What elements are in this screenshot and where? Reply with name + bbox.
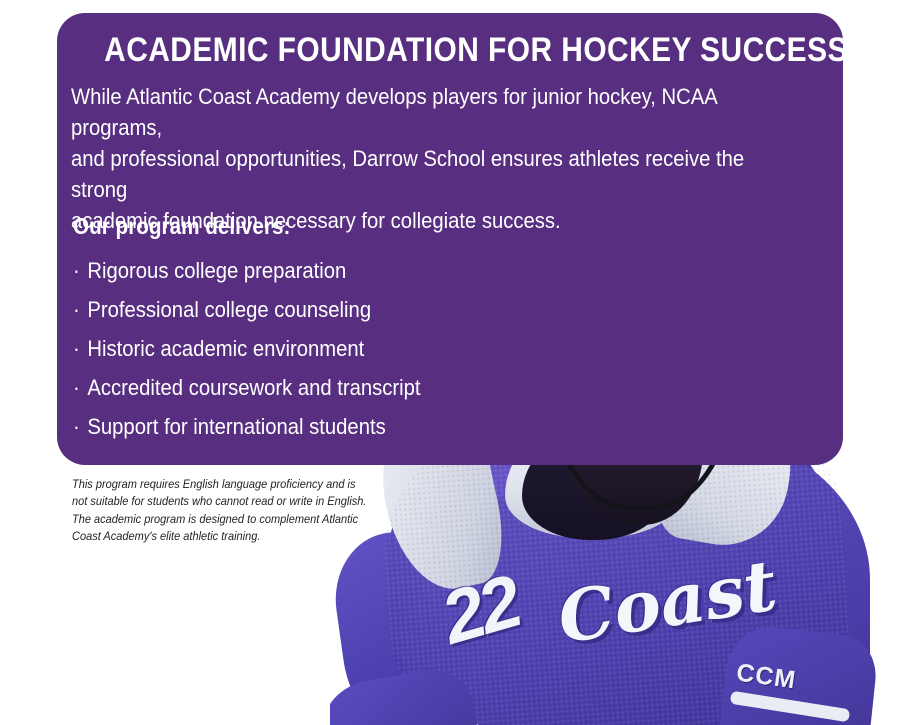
list-item: ·Historic academic environment (73, 329, 541, 368)
purple-content-panel: ACADEMIC FOUNDATION FOR HOCKEY SUCCESS W… (57, 13, 843, 465)
list-item-label: Historic academic environment (87, 336, 364, 361)
program-delivers-heading: Our program delivers: (73, 213, 290, 240)
bullet-dot-icon: · (73, 329, 87, 368)
list-item-label: Professional college counseling (87, 297, 371, 322)
disclaimer-line: This program requires English language p… (72, 476, 357, 493)
disclaimer-text: This program requires English language p… (72, 476, 357, 546)
bullet-dot-icon: · (73, 407, 87, 446)
list-item: ·Rigorous college preparation (73, 251, 541, 290)
list-item: ·Support for international students (73, 407, 541, 446)
list-item: ·Professional college counseling (73, 290, 541, 329)
list-item: ·Accredited coursework and transcript (73, 368, 541, 407)
list-item-label: Support for international students (87, 414, 385, 439)
infographic-canvas: 22 Coast CCM COAST (0, 0, 900, 725)
panel-title: ACADEMIC FOUNDATION FOR HOCKEY SUCCESS (104, 31, 796, 70)
list-item-label: Rigorous college preparation (87, 258, 346, 283)
disclaimer-line: Coast Academy's elite athletic training. (72, 528, 357, 545)
intro-line: While Atlantic Coast Academy develops pl… (71, 81, 755, 143)
disclaimer-line: The academic program is designed to comp… (72, 511, 357, 528)
bullet-dot-icon: · (73, 290, 87, 329)
list-item-label: Accredited coursework and transcript (87, 375, 420, 400)
bullet-dot-icon: · (73, 368, 87, 407)
disclaimer-line: not suitable for students who cannot rea… (72, 493, 357, 510)
intro-line: and professional opportunities, Darrow S… (71, 143, 755, 205)
program-benefits-list: ·Rigorous college preparation ·Professio… (73, 251, 541, 446)
bullet-dot-icon: · (73, 251, 87, 290)
